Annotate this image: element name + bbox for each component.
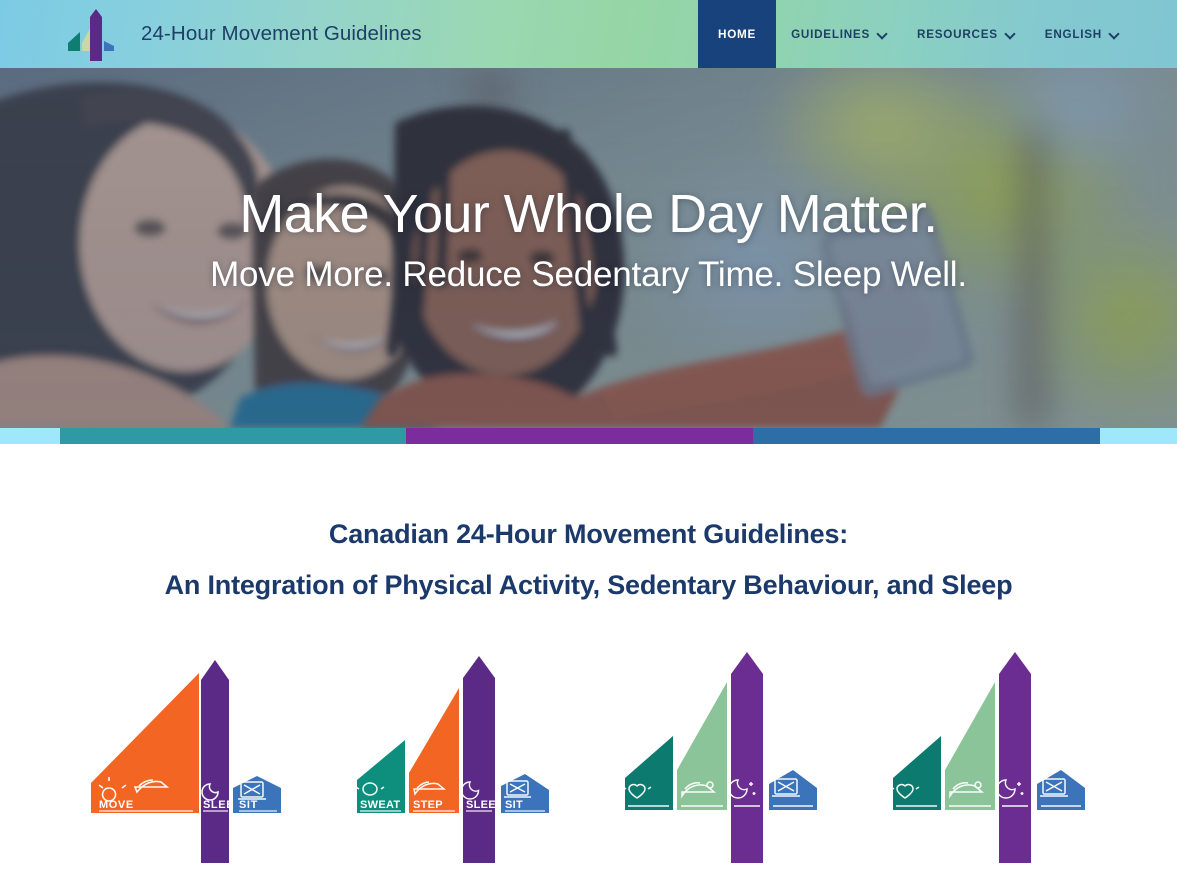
strip-spacer-left (0, 428, 60, 444)
bar-heart (625, 736, 673, 810)
bar-move (91, 673, 199, 813)
chevron-down-icon (1110, 29, 1119, 38)
section-heading-line2: An Integration of Physical Activity, Sed… (0, 571, 1177, 599)
movement-guidelines-logo-icon (60, 3, 122, 65)
hero-text: Make Your Whole Day Matter. Move More. R… (0, 186, 1177, 293)
bar-label-sweat: SWEAT (360, 799, 400, 811)
nav-item-home[interactable]: HOME (698, 0, 776, 68)
chevron-down-icon (878, 29, 887, 38)
guideline-card-children-youth[interactable]: SWEAT STEP SLEEP (349, 648, 561, 863)
primary-navigation: HOME GUIDELINES RESOURCES ENGLISH (698, 0, 1134, 68)
guideline-card-adults[interactable] (617, 648, 829, 863)
nav-item-english-label: ENGLISH (1045, 28, 1102, 41)
brand[interactable]: 24-Hour Movement Guidelines (60, 3, 422, 65)
hero-banner: Make Your Whole Day Matter. Move More. R… (0, 68, 1177, 428)
bar-label-sit: SIT (239, 799, 258, 811)
section-heading-line1: Canadian 24-Hour Movement Guidelines: (0, 520, 1177, 548)
guideline-card-older-adults[interactable] (885, 648, 1097, 863)
strip-segment-teal (60, 428, 406, 444)
bar-rest (677, 682, 727, 810)
nav-item-english[interactable]: ENGLISH (1030, 0, 1134, 68)
strip-segment-blue (753, 428, 1100, 444)
section-heading: Canadian 24-Hour Movement Guidelines: An… (0, 520, 1177, 600)
strip-segment-purple (406, 428, 753, 444)
brand-title: 24-Hour Movement Guidelines (141, 22, 422, 46)
bar-label-step: STEP (413, 799, 443, 811)
bar-sleep (999, 652, 1031, 863)
guidelines-section: Canadian 24-Hour Movement Guidelines: An… (0, 444, 1177, 863)
color-strip (0, 428, 1177, 444)
site-header: 24-Hour Movement Guidelines HOME GUIDELI… (0, 0, 1177, 68)
nav-item-guidelines[interactable]: GUIDELINES (776, 0, 902, 68)
bar-sleep (731, 652, 763, 863)
bar-label-sit: SIT (505, 799, 523, 811)
nav-item-home-label: HOME (718, 28, 756, 41)
bar-rest (945, 682, 995, 810)
bar-label-sleep: SLEEP (466, 799, 504, 811)
nav-item-resources-label: RESOURCES (917, 28, 998, 41)
bar-step (409, 688, 459, 813)
bar-label-move: MOVE (99, 799, 134, 811)
bar-sleep (463, 656, 495, 863)
hero-subtitle: Move More. Reduce Sedentary Time. Sleep … (0, 256, 1177, 294)
bar-sleep (201, 660, 229, 863)
strip-spacer-right (1100, 428, 1177, 444)
nav-item-guidelines-label: GUIDELINES (791, 28, 870, 41)
chevron-down-icon (1006, 29, 1015, 38)
bar-heart (893, 736, 941, 810)
nav-item-resources[interactable]: RESOURCES (902, 0, 1030, 68)
guideline-card-early-years[interactable]: MOVE SLEEP SIT (81, 648, 293, 863)
guideline-cards: MOVE SLEEP SIT (0, 648, 1177, 863)
hero-title: Make Your Whole Day Matter. (0, 186, 1177, 243)
